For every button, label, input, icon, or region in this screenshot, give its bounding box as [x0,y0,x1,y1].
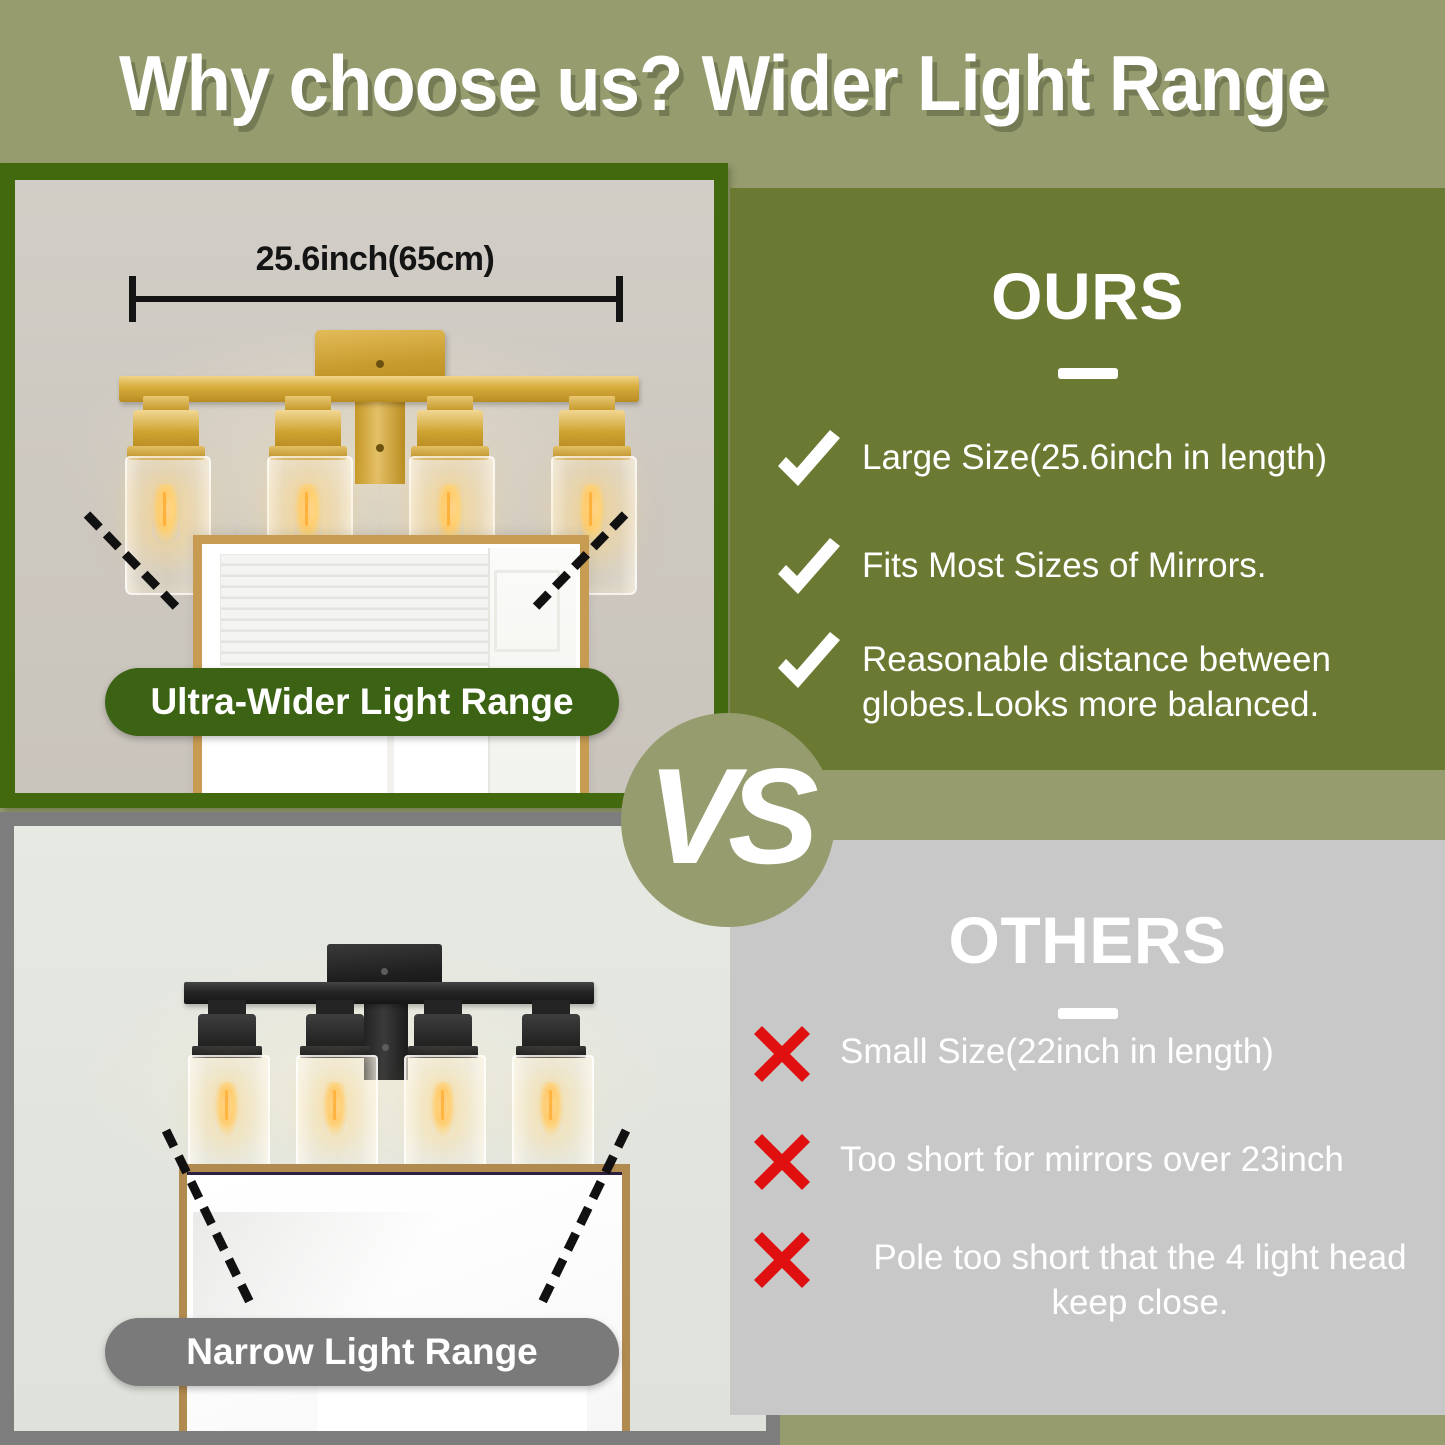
bathroom-mirror-top [193,535,589,793]
bulb-filament [549,1090,552,1120]
black-vanity-light-fixture [184,944,594,1144]
bottom-accent-band [780,1415,1445,1445]
ours-bullet-item: Reasonable distance between globes.Looks… [772,630,1440,728]
dimension-label: 25.6inch(65cm) [115,240,635,279]
ours-bullet-text: Large Size(25.6inch in length) [846,428,1327,481]
bulb-filament [225,1090,228,1120]
ours-bullet-item: Large Size(25.6inch in length) [772,428,1432,502]
ours-bullet-item: Fits Most Sizes of Mirrors. [772,536,1432,610]
bulb-filament [441,1090,444,1120]
header-banner: Why choose us? Wider Light Range [0,0,1445,163]
ours-range-badge: Ultra-Wider Light Range [105,668,619,736]
vs-label: VS [647,748,808,884]
dimension-cap-left [129,276,136,322]
dimension-annotation: 25.6inch(65cm) [115,240,635,310]
others-range-badge-label: Narrow Light Range [186,1331,538,1373]
others-bullet-item: Too short for mirrors over 23inch [750,1130,1445,1204]
others-bullet-text: Pole too short that the 4 light head kee… [824,1228,1440,1326]
fixture-crossbar [119,376,639,402]
brass-vanity-light-fixture [119,330,639,530]
infographic-root: Why choose us? Wider Light Range 25.6inc… [0,0,1445,1445]
dimension-cap-right [616,276,623,322]
others-panel: OTHERS Small Size(22inch in length) Too … [730,840,1445,1415]
others-title: OTHERS [730,902,1445,978]
x-icon [750,1130,824,1204]
x-icon [750,1228,824,1302]
ours-title: OURS [730,258,1445,334]
x-icon [750,1022,824,1096]
others-bullet-text: Small Size(22inch in length) [824,1022,1274,1075]
bulb-filament [589,492,592,526]
bulb-filament [163,492,166,526]
page-title: Why choose us? Wider Light Range [51,38,1395,129]
bulb-filament [447,492,450,526]
check-icon [772,428,846,502]
others-bullet-item: Pole too short that the 4 light head kee… [750,1228,1440,1326]
ours-title-rule [1058,368,1118,379]
others-bullet-item: Small Size(22inch in length) [750,1022,1440,1096]
bulb-glow [152,484,180,544]
dimension-line [129,296,623,302]
vs-badge: VS [621,713,835,927]
bulb-filament [305,492,308,526]
check-icon [772,630,846,704]
ours-bullet-text: Fits Most Sizes of Mirrors. [846,536,1266,589]
others-bullet-text: Too short for mirrors over 23inch [824,1130,1344,1183]
others-range-badge: Narrow Light Range [105,1318,619,1386]
ours-panel: OURS Large Size(25.6inch in length) Fits… [730,188,1445,770]
ours-bullet-text: Reasonable distance between globes.Looks… [846,630,1440,728]
divider-band [730,770,1445,840]
ours-range-badge-label: Ultra-Wider Light Range [150,681,573,723]
others-title-rule [1058,1008,1118,1019]
check-icon [772,536,846,610]
bulb-filament [333,1090,336,1120]
